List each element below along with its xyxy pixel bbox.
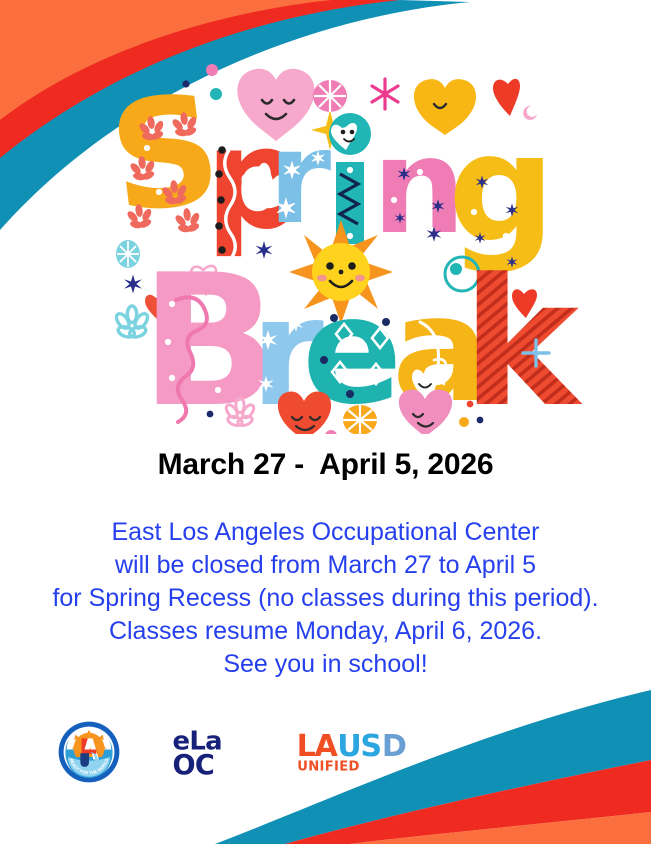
svg-text:r: r [268,104,331,253]
letter-i [329,113,371,244]
blue-citrus-icon [116,240,140,268]
elaoc-line-2: OC [172,750,214,778]
seal-top-text: LOS ANGELES UNIFIED [58,721,107,722]
letter-k: k [462,241,583,434]
orange-citrus-slice-icon [343,405,377,434]
ribbon-orange-bottom [350,812,651,844]
lausd-part-us: US [337,729,381,764]
lausd-subtitle: UNIFIED [297,759,359,774]
lausd-unified-logo: LA US D UNIFIED [294,727,412,777]
lausd-part-la: LA [297,729,339,764]
elaoc-logo: eLa OC [166,726,250,778]
spring-break-headline-art: S [0,22,651,434]
lausd-seal-logo: LOS ANGELES UNIFIED READY FOR THE WORLD [58,721,120,783]
logo-row: LOS ANGELES UNIFIED READY FOR THE WORLD … [52,712,412,792]
spring-break-flyer: S [0,0,651,844]
body-line-4: Classes resume Monday, April 6, 2026. [0,615,651,648]
body-line-3: for Spring Recess (no classes during thi… [0,582,651,615]
dot-navy-2 [207,411,214,418]
announcement-body: East Los Angeles Occupational Center wil… [0,516,651,681]
svg-text:k: k [462,241,583,434]
letter-r: r [268,104,331,253]
body-line-5: See you in school! [0,648,651,681]
word-break: B r [140,235,583,434]
dot-orange-small [459,417,469,427]
dot-red-small [467,401,474,408]
body-line-1: East Los Angeles Occupational Center [0,516,651,549]
dot-navy-3 [477,417,484,424]
magenta-sparkle-icon [372,79,398,109]
date-range-text: March 27 - April 5, 2026 [0,448,651,482]
lausd-part-d: D [382,729,406,764]
body-line-2: will be closed from March 27 to April 5 [0,549,651,582]
